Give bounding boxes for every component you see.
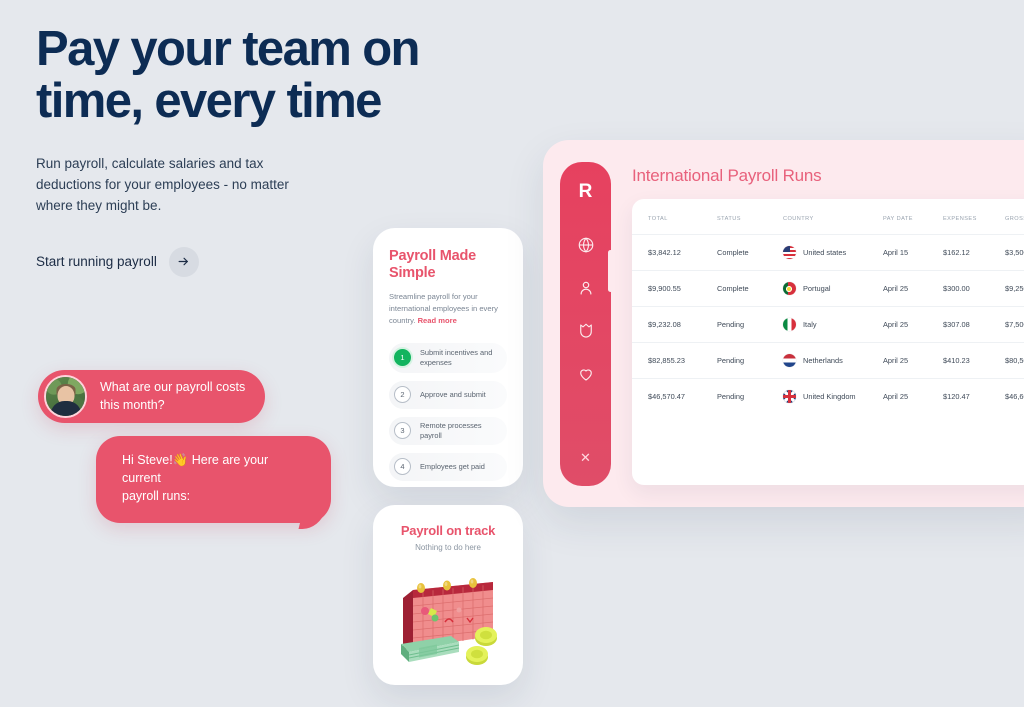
cell-status: Pending xyxy=(717,307,783,343)
column-header-pay-date[interactable]: PAY DATE xyxy=(883,199,943,235)
read-more-link[interactable]: Read more xyxy=(418,316,457,325)
column-header-total[interactable]: TOTAL xyxy=(632,199,717,235)
remote-logo-icon[interactable]: R xyxy=(572,178,600,206)
table-row[interactable]: $46,570.47 Pending United Kingdom April … xyxy=(632,379,1024,415)
cell-expenses: $120.47 xyxy=(943,379,1005,415)
avatar xyxy=(44,375,87,418)
table-row[interactable]: $82,855.23 Pending Netherlands April 25 … xyxy=(632,343,1024,379)
globe-icon[interactable] xyxy=(577,236,595,254)
page-title: Pay your team on time, every time xyxy=(36,24,506,128)
chat-user-text: What are our payroll costs this month? xyxy=(100,379,245,414)
cell-pay-date: April 25 xyxy=(883,307,943,343)
cell-status: Complete xyxy=(717,235,783,271)
cell-gross-pay: $7,500.00 xyxy=(1005,307,1024,343)
cell-country: United Kingdom xyxy=(783,379,883,415)
flag-icon-netherlands xyxy=(783,354,796,367)
flag-icon-portugal xyxy=(783,282,796,295)
flag-icon-italy xyxy=(783,318,796,331)
country-label: Italy xyxy=(803,320,817,329)
panel-title: International Payroll Runs xyxy=(632,166,821,186)
close-icon[interactable]: ✕ xyxy=(580,451,591,464)
table-body: $3,842.12 Complete United states April 1… xyxy=(632,235,1024,415)
step-label: Approve and submit xyxy=(420,390,486,400)
cell-status: Pending xyxy=(717,343,783,379)
cell-gross-pay: $80,500.00 xyxy=(1005,343,1024,379)
country-label: United Kingdom xyxy=(803,392,856,401)
cell-pay-date: April 25 xyxy=(883,379,943,415)
person-icon[interactable] xyxy=(577,279,595,297)
step-number: 1 xyxy=(394,349,411,366)
cell-country: Portugal xyxy=(783,271,883,307)
country-label: Netherlands xyxy=(803,356,843,365)
country-label: Portugal xyxy=(803,284,831,293)
hero-subtext: Run payroll, calculate salaries and tax … xyxy=(36,154,321,217)
cell-country: Netherlands xyxy=(783,343,883,379)
column-header-gross-pay[interactable]: GROSS PAY xyxy=(1005,199,1024,235)
cell-expenses: $300.00 xyxy=(943,271,1005,307)
cell-status: Complete xyxy=(717,271,783,307)
payroll-runs-table-card: TOTAL STATUS COUNTRY PAY DATE EXPENSES G… xyxy=(632,199,1024,485)
step-item-1[interactable]: 1 Submit incentives and expenses xyxy=(389,343,507,373)
step-label: Employees get paid xyxy=(420,462,485,472)
cell-expenses: $307.08 xyxy=(943,307,1005,343)
cell-status: Pending xyxy=(717,379,783,415)
table-head: TOTAL STATUS COUNTRY PAY DATE EXPENSES G… xyxy=(632,199,1024,235)
calendar-and-money-illustration xyxy=(389,562,507,668)
track-card-title: Payroll on track xyxy=(373,523,523,538)
cell-total: $3,842.12 xyxy=(632,235,717,271)
step-number: 3 xyxy=(394,422,411,439)
table-row[interactable]: $9,900.55 Complete Portugal April 25 $30… xyxy=(632,271,1024,307)
page-root: Pay your team on time, every time Run pa… xyxy=(0,0,1024,707)
table-row[interactable]: $9,232.08 Pending Italy April 25 $307.08… xyxy=(632,307,1024,343)
cell-gross-pay: $46,600.00 xyxy=(1005,379,1024,415)
cell-pay-date: April 25 xyxy=(883,271,943,307)
app-sidebar: R ✕ xyxy=(560,162,611,486)
step-number: 2 xyxy=(394,386,411,403)
payroll-made-simple-card: Payroll Made Simple Streamline payroll f… xyxy=(373,228,523,487)
flag-icon-united-states xyxy=(783,246,796,259)
sidebar-icons xyxy=(577,236,595,451)
step-label: Remote processes payroll xyxy=(420,421,497,441)
chat-bot-text: Hi Steve!👋 Here are your current payroll… xyxy=(122,452,309,505)
step-number: 4 xyxy=(394,458,411,475)
step-item-3[interactable]: 3 Remote processes payroll xyxy=(389,417,507,445)
cell-pay-date: April 25 xyxy=(883,343,943,379)
bubble-tail xyxy=(299,509,326,529)
cta-label: Start running payroll xyxy=(36,254,157,269)
sidebar-scroll-notch xyxy=(608,250,613,292)
cell-pay-date: April 15 xyxy=(883,235,943,271)
steps-card-description: Streamline payroll for your internationa… xyxy=(389,291,507,326)
shield-icon[interactable] xyxy=(577,322,595,340)
chat-bubble-user: What are our payroll costs this month? xyxy=(38,370,265,423)
payroll-on-track-card: Payroll on track Nothing to do here xyxy=(373,505,523,685)
payroll-runs-table: TOTAL STATUS COUNTRY PAY DATE EXPENSES G… xyxy=(632,199,1024,414)
column-header-status[interactable]: STATUS xyxy=(717,199,783,235)
chat-bubble-bot: Hi Steve!👋 Here are your current payroll… xyxy=(96,436,331,523)
cell-expenses: $410.23 xyxy=(943,343,1005,379)
cell-total: $46,570.47 xyxy=(632,379,717,415)
cell-expenses: $162.12 xyxy=(943,235,1005,271)
step-item-4[interactable]: 4 Employees get paid xyxy=(389,453,507,481)
cell-gross-pay: $9,250.00 xyxy=(1005,271,1024,307)
arrow-right-icon[interactable] xyxy=(169,247,199,277)
steps-list: 1 Submit incentives and expenses 2 Appro… xyxy=(389,343,507,481)
step-item-2[interactable]: 2 Approve and submit xyxy=(389,381,507,409)
cell-total: $9,232.08 xyxy=(632,307,717,343)
column-header-expenses[interactable]: EXPENSES xyxy=(943,199,1005,235)
cell-country: United states xyxy=(783,235,883,271)
payroll-runs-panel: R ✕ International Payroll Runs xyxy=(543,140,1024,507)
cell-country: Italy xyxy=(783,307,883,343)
column-header-country[interactable]: COUNTRY xyxy=(783,199,883,235)
heart-icon[interactable] xyxy=(577,365,595,383)
country-label: United states xyxy=(803,248,846,257)
cell-total: $9,900.55 xyxy=(632,271,717,307)
table-row[interactable]: $3,842.12 Complete United states April 1… xyxy=(632,235,1024,271)
track-card-subtitle: Nothing to do here xyxy=(373,543,523,552)
step-label: Submit incentives and expenses xyxy=(420,348,497,368)
table-header-row: TOTAL STATUS COUNTRY PAY DATE EXPENSES G… xyxy=(632,199,1024,235)
cell-gross-pay: $3,500.00 xyxy=(1005,235,1024,271)
cell-total: $82,855.23 xyxy=(632,343,717,379)
steps-card-title: Payroll Made Simple xyxy=(389,248,507,282)
flag-icon-united-kingdom xyxy=(783,390,796,403)
